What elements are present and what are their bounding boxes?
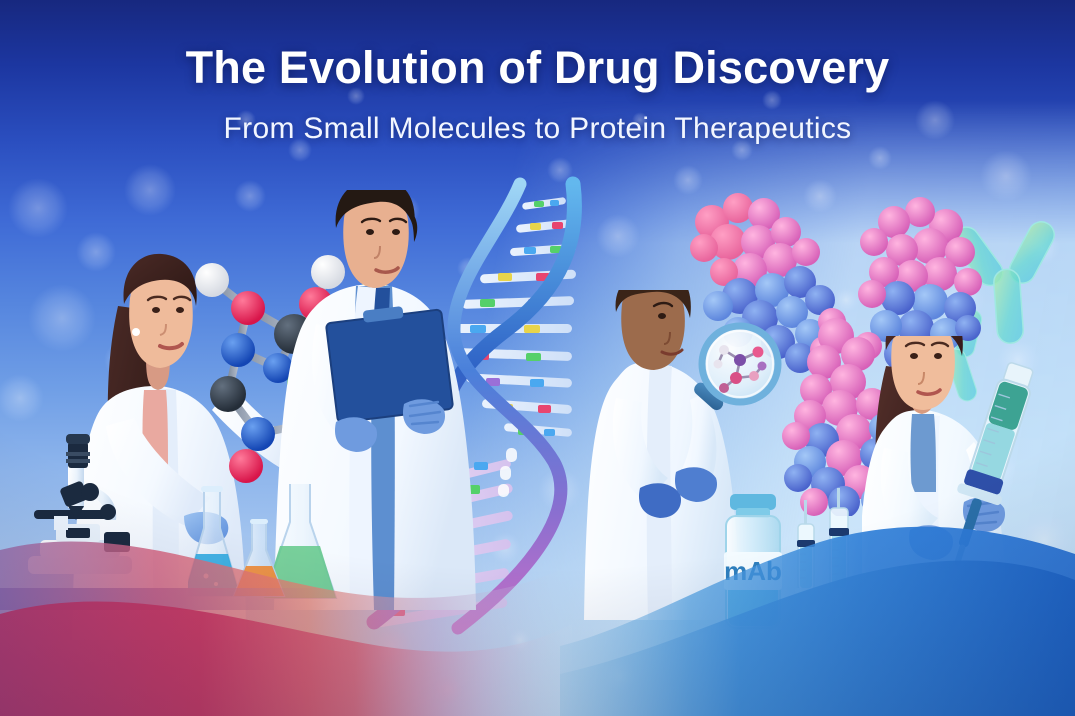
page-subtitle: From Small Molecules to Protein Therapeu…	[0, 112, 1075, 146]
poster-canvas: mAb	[0, 0, 1075, 716]
page-title: The Evolution of Drug Discovery	[0, 42, 1075, 94]
bottom-waves	[0, 496, 1075, 716]
magnifying-glass	[684, 316, 794, 436]
